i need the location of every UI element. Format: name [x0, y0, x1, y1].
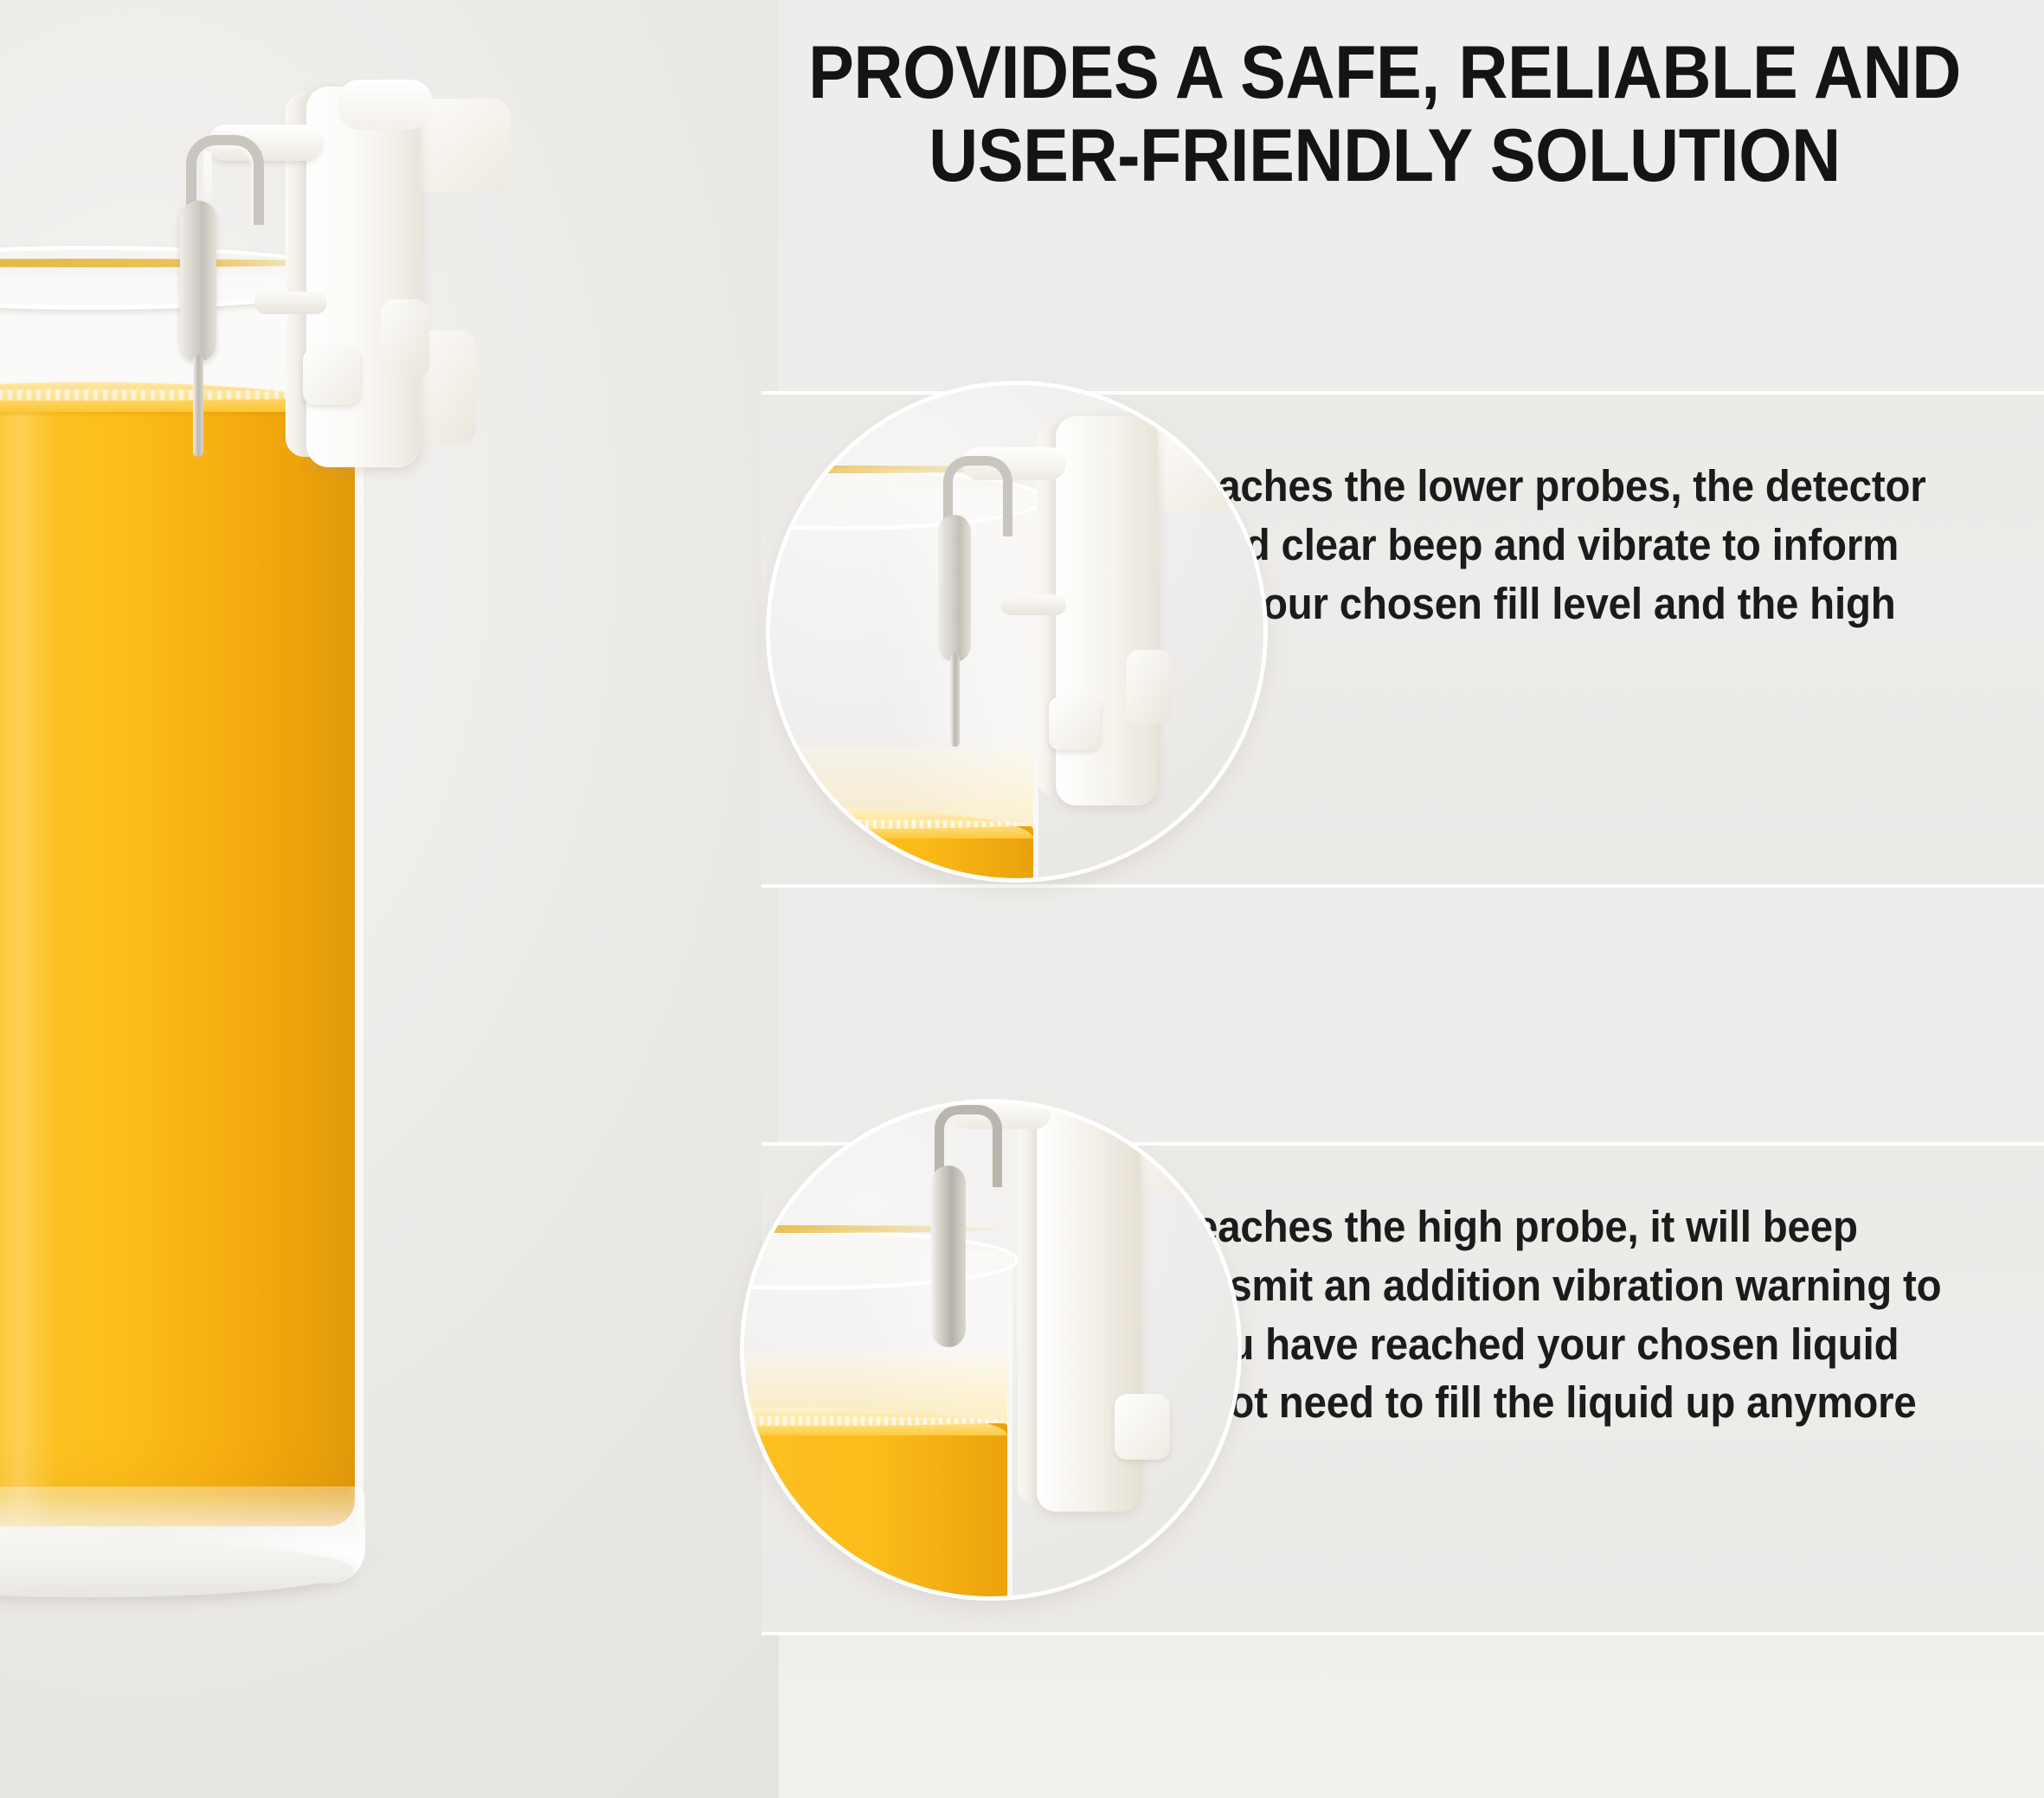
detector-top-cap — [337, 80, 433, 130]
inset-two-juice-fill — [744, 1423, 1007, 1596]
main-product-photo — [0, 0, 779, 1798]
page-title: PROVIDES A SAFE, RELIABLE AND USER-FRIEN… — [795, 31, 1974, 198]
inset-one-detector-rear-block — [1144, 428, 1241, 511]
inset-one-detector-lower-arm — [1000, 594, 1066, 615]
inset-photo-low-level — [770, 385, 1263, 878]
detector-clip-foot — [303, 348, 360, 405]
inset-two-detector — [1014, 1103, 1237, 1546]
inset-one-glass — [770, 487, 1038, 878]
inset-two-detector-clip-foot — [1115, 1394, 1170, 1460]
page-title-line-2: USER-FRIENDLY SOLUTION — [795, 114, 1974, 197]
probe-collar — [180, 201, 216, 362]
page-title-line-1: PROVIDES A SAFE, RELIABLE AND — [795, 31, 1974, 114]
inset-one-detector — [1030, 394, 1263, 844]
inset-one-probe-collar — [938, 515, 971, 662]
probe-pin — [193, 355, 203, 457]
inset-two-probe-collar — [931, 1165, 966, 1347]
detector-lower-arm — [254, 292, 327, 314]
juice-highlight — [0, 396, 57, 1526]
inset-one-detector-clip-foot — [1049, 697, 1101, 750]
inset-two-detector-rear-block — [1127, 1110, 1227, 1190]
liquid-level-detector — [286, 80, 580, 478]
orange-juice-fill — [0, 396, 355, 1526]
detector-lower-tab — [381, 299, 429, 379]
inset-one-detector-lower-tab — [1127, 650, 1172, 724]
inset-photo-high-level — [744, 1103, 1237, 1596]
inset-two-glass — [744, 1250, 1012, 1596]
detector-body — [306, 87, 421, 467]
inset-one-probe-pin — [950, 653, 960, 747]
infographic-canvas: PROVIDES A SAFE, RELIABLE AND USER-FRIEN… — [0, 0, 2044, 1798]
